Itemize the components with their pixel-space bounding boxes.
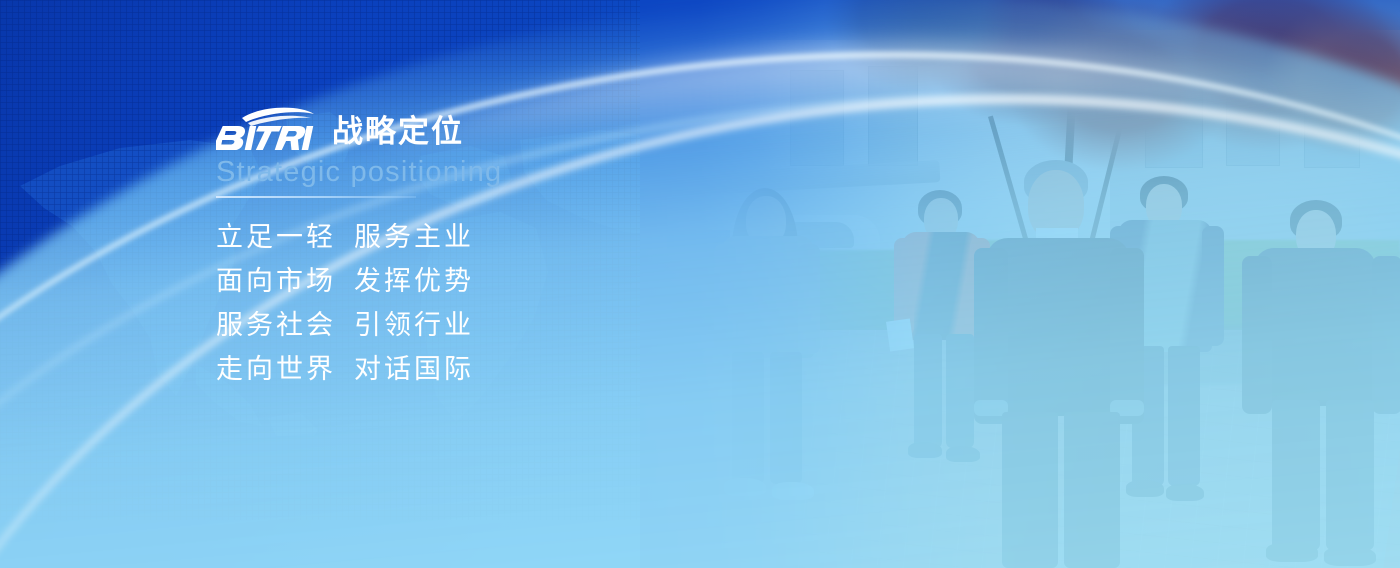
title-row: 战略定位: [216, 104, 736, 150]
slogan-right: 服务主业: [354, 215, 474, 259]
bitri-logo: [216, 106, 316, 150]
banner-content: 战略定位 Strategic positioning 立足一轻 服务主业 面向市…: [216, 104, 736, 391]
slogan-left: 面向市场: [216, 259, 354, 303]
slogan-line: 服务社会 引领行业: [216, 303, 736, 347]
strategic-positioning-banner: 战略定位 Strategic positioning 立足一轻 服务主业 面向市…: [0, 0, 1400, 568]
title-divider: [216, 196, 416, 198]
slogan-left: 走向世界: [216, 347, 354, 391]
page-subtitle: Strategic positioning: [216, 155, 736, 189]
page-title: 战略定位: [332, 115, 464, 150]
banner-photo: [640, 0, 1400, 568]
slogan-right: 引领行业: [354, 303, 474, 347]
slogan-line: 走向世界 对话国际: [216, 347, 736, 391]
slogan-right: 发挥优势: [354, 259, 474, 303]
slogan-list: 立足一轻 服务主业 面向市场 发挥优势 服务社会 引领行业 走向世界 对话国际: [216, 215, 736, 391]
slogan-left: 服务社会: [216, 303, 354, 347]
slogan-line: 面向市场 发挥优势: [216, 259, 736, 303]
slogan-right: 对话国际: [354, 347, 474, 391]
slogan-line: 立足一轻 服务主业: [216, 215, 736, 259]
slogan-left: 立足一轻: [216, 215, 354, 259]
